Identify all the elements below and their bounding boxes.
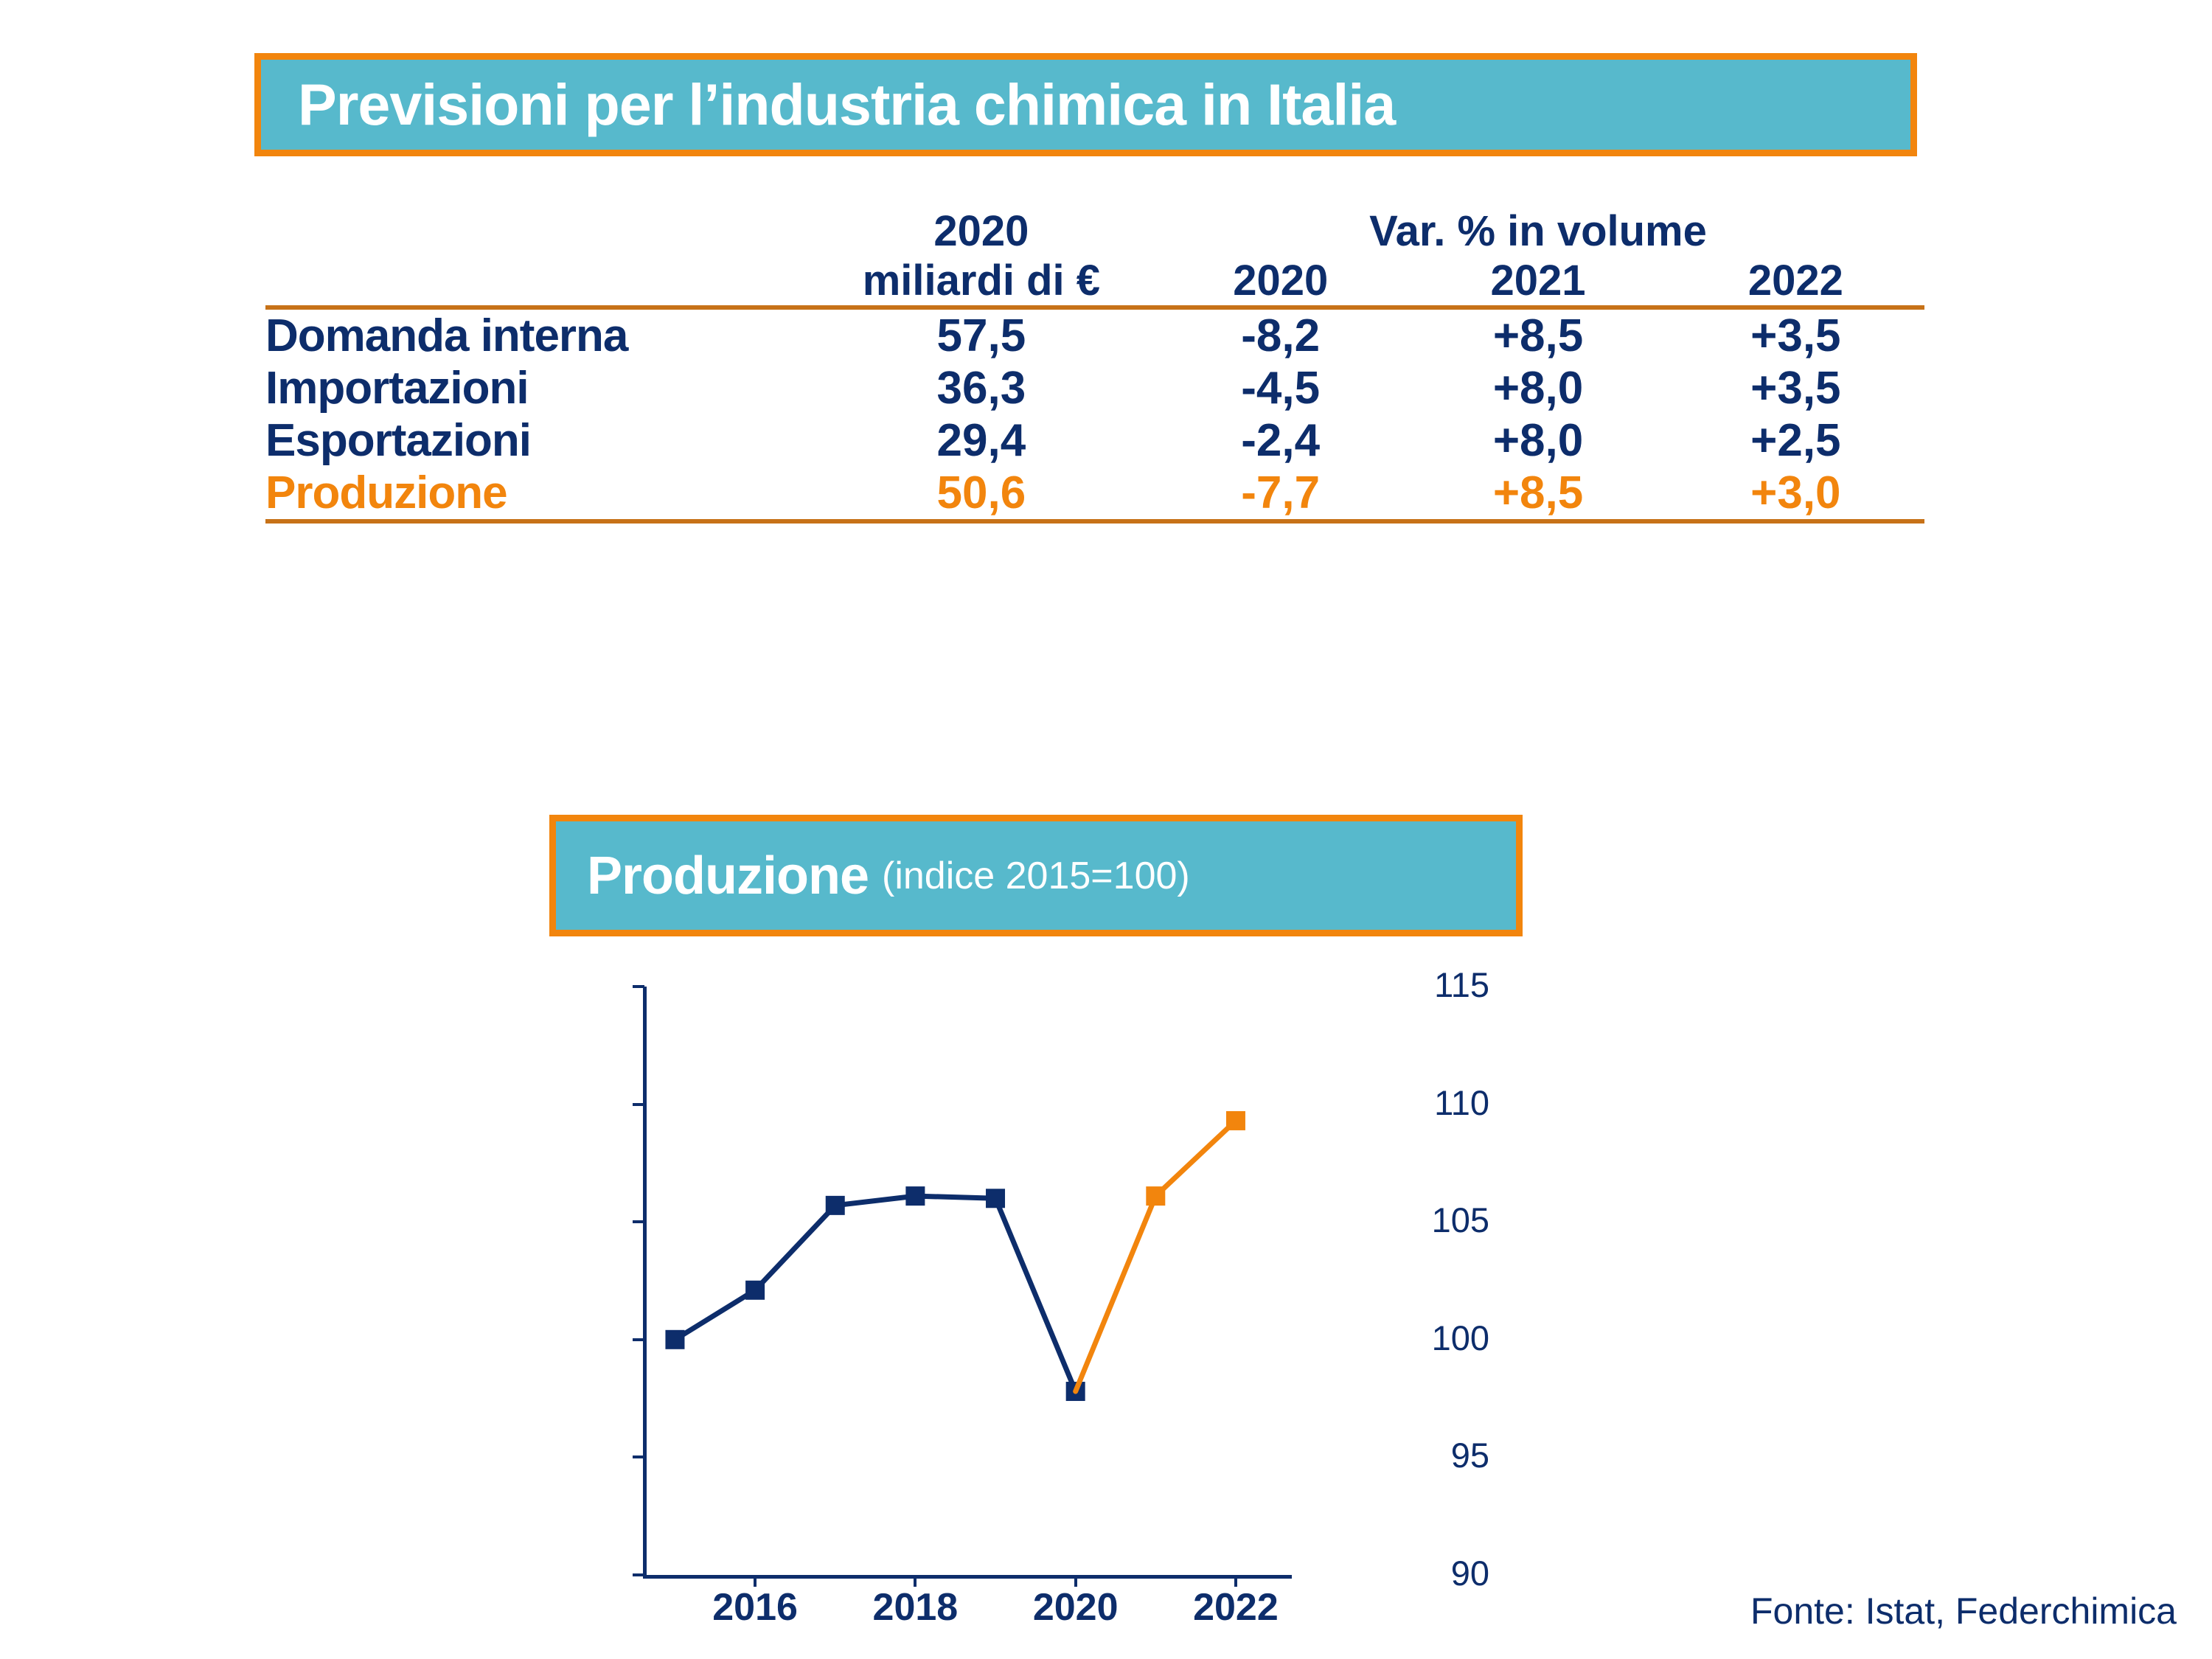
data-point-marker (665, 1330, 684, 1349)
chart-title-banner: Produzione (indice 2015=100) (549, 815, 1523, 936)
row-var-2020-esportazioni: -2,4 (1152, 414, 1409, 467)
chart-title: Produzione (556, 846, 869, 906)
series-line-1 (1076, 1121, 1236, 1391)
row-label-produzione: Produzione (265, 467, 811, 519)
series-line-0 (675, 1196, 1075, 1391)
table-row: Domanda interna 57,5 -8,2 +8,5 +3,5 (265, 310, 1924, 362)
row-label-importazioni: Importazioni (265, 362, 811, 414)
row-var-2020-produzione: -7,7 (1152, 467, 1409, 519)
forecast-table: 2020 Var. % in volume miliardi di € 2020… (265, 206, 1924, 524)
page-title: Previsioni per l’industria chimica in It… (261, 71, 1395, 139)
data-point-marker (1226, 1111, 1245, 1130)
row-value-2020-esportazioni: 29,4 (811, 414, 1152, 467)
chart-series-layer (560, 973, 1489, 1593)
row-var-2021-importazioni: +8,0 (1409, 362, 1666, 414)
header-unit: miliardi di € (811, 256, 1152, 305)
row-var-2020-importazioni: -4,5 (1152, 362, 1409, 414)
row-var-2021-domanda-interna: +8,5 (1409, 310, 1666, 362)
row-var-2021-produzione: +8,5 (1409, 467, 1666, 519)
header-spacer (265, 206, 811, 256)
table-row: Importazioni 36,3 -4,5 +8,0 +3,5 (265, 362, 1924, 414)
row-value-2020-produzione: 50,6 (811, 467, 1152, 519)
row-var-2022-esportazioni: +2,5 (1667, 414, 1924, 467)
data-point-marker (826, 1196, 845, 1215)
header-col-2021: 2021 (1409, 256, 1666, 305)
row-value-2020-domanda-interna: 57,5 (811, 310, 1152, 362)
row-var-2022-domanda-interna: +3,5 (1667, 310, 1924, 362)
header-var-group: Var. % in volume (1152, 206, 1924, 256)
table-bottom-rule-row (265, 519, 1924, 524)
table-row: Esportazioni 29,4 -2,4 +8,0 +2,5 (265, 414, 1924, 467)
production-index-chart: 9095100105110115 2016201820202022 (560, 973, 1489, 1593)
data-point-marker (1146, 1186, 1165, 1206)
data-point-marker (745, 1281, 765, 1300)
table-bottom-rule (265, 519, 1924, 524)
header-year-value: 2020 (811, 206, 1152, 256)
chart-subtitle: (indice 2015=100) (869, 854, 1190, 898)
table-header-second-row: miliardi di € 2020 2021 2022 (265, 256, 1924, 305)
source-note: Fonte: Istat, Federchimica (1750, 1590, 2177, 1632)
table-row-produzione: Produzione 50,6 -7,7 +8,5 +3,0 (265, 467, 1924, 519)
data-point-marker (986, 1189, 1005, 1208)
row-var-2021-esportazioni: +8,0 (1409, 414, 1666, 467)
header-col-2020: 2020 (1152, 256, 1409, 305)
row-label-esportazioni: Esportazioni (265, 414, 811, 467)
data-point-marker (905, 1186, 925, 1206)
row-label-domanda-interna: Domanda interna (265, 310, 811, 362)
row-value-2020-importazioni: 36,3 (811, 362, 1152, 414)
row-var-2022-importazioni: +3,5 (1667, 362, 1924, 414)
header-col-2022: 2022 (1667, 256, 1924, 305)
table-bottom-rule-cell (265, 519, 1924, 524)
row-var-2020-domanda-interna: -8,2 (1152, 310, 1409, 362)
page-title-banner: Previsioni per l’industria chimica in It… (254, 53, 1917, 156)
row-var-2022-produzione: +3,0 (1667, 467, 1924, 519)
header-spacer-2 (265, 256, 811, 305)
table-header-top-row: 2020 Var. % in volume (265, 206, 1924, 256)
forecast-table-container: 2020 Var. % in volume miliardi di € 2020… (265, 206, 1924, 524)
